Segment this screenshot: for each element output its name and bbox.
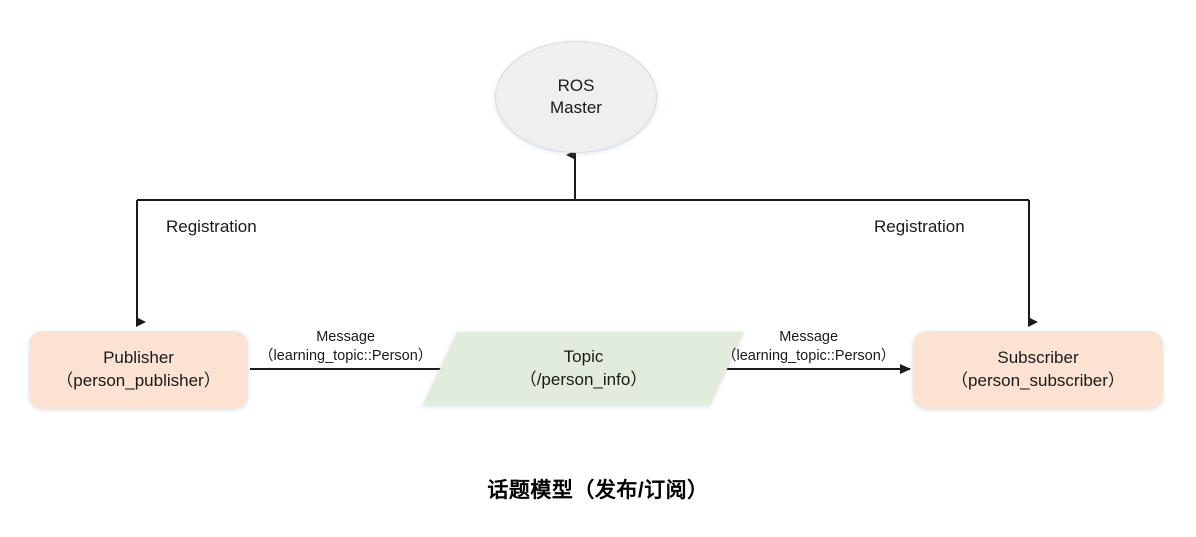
node-ros-master-line1: ROS <box>558 75 595 97</box>
edge-label-message-left-line1: Message <box>259 328 432 347</box>
node-subscriber[interactable]: Subscriber （person_subscriber） <box>913 331 1163 409</box>
node-topic-subtitle: （/person_info） <box>520 369 648 392</box>
node-publisher-title: Publisher <box>103 347 174 370</box>
edge-label-message-left: Message （learning_topic::Person） <box>259 328 432 366</box>
edge-label-message-left-line2: （learning_topic::Person） <box>259 347 432 366</box>
node-topic-title: Topic <box>564 346 604 369</box>
edge-label-message-right-line1: Message <box>722 328 895 347</box>
node-ros-master-line2: Master <box>550 97 602 119</box>
edge-label-message-right: Message （learning_topic::Person） <box>722 328 895 366</box>
node-subscriber-subtitle: （person_subscriber） <box>951 370 1125 393</box>
diagram-caption: 话题模型（发布/订阅） <box>0 474 1196 504</box>
edge-label-message-right-line2: （learning_topic::Person） <box>722 347 895 366</box>
edge-label-registration-left: Registration <box>166 217 257 237</box>
node-ros-master[interactable]: ROS Master <box>495 41 657 153</box>
node-subscriber-title: Subscriber <box>997 347 1078 370</box>
node-topic-label: Topic （/person_info） <box>440 332 727 406</box>
diagram-canvas: ROS Master Publisher （person_publisher） … <box>0 0 1196 537</box>
node-publisher-subtitle: （person_publisher） <box>56 370 220 393</box>
edge-label-registration-right: Registration <box>874 217 965 237</box>
node-topic[interactable]: Topic （/person_info） <box>440 332 727 406</box>
node-publisher[interactable]: Publisher （person_publisher） <box>29 331 248 409</box>
